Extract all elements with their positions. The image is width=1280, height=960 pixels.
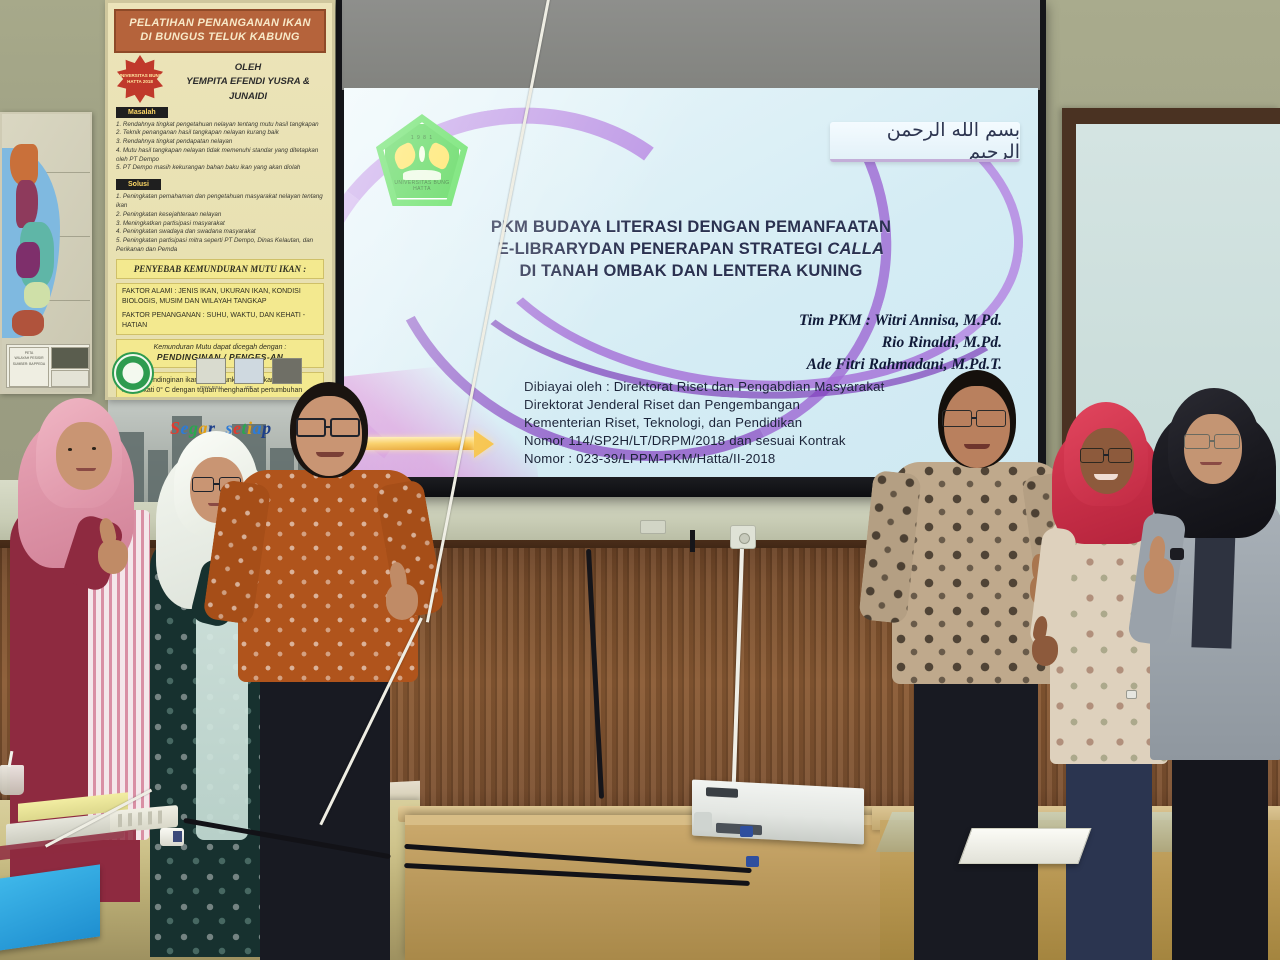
map-legend: PETA WILAYAH PESISIR SUMBER: BAPPEDA — [6, 344, 90, 388]
poster-s1-item-4: 5. PT Dempo masih kekurangan bahan baku … — [116, 164, 324, 173]
funding-line-4: Nomor : 023-39/LPPM-PKM/Hatta/II-2018 — [524, 450, 885, 468]
wall-outlet — [730, 525, 756, 549]
bismillah-calligraphy: بسم الله الرحمن الرحيم — [830, 122, 1020, 162]
funding-line-1: Direktorat Jenderal Riset dan Pengembang… — [524, 396, 885, 414]
person-6-bracelet — [1170, 548, 1184, 560]
projector-vent-icon — [706, 787, 738, 798]
person-2-glasses-icon — [192, 477, 214, 492]
blue-folder — [0, 864, 100, 951]
slide-title-line-1: PKM BUDAYA LITERASI DENGAN PEMANFAATAN — [356, 216, 1026, 238]
person-5-watch — [1126, 690, 1137, 699]
slide-team-list: Tim PKM : Witri Annisa, M.Pd. Rio Rinald… — [799, 310, 1002, 376]
poster-s2-item-3: 4. Peningkatan swadaya dan swadana masya… — [116, 228, 324, 237]
slide-title: PKM BUDAYA LITERASI DENGAN PEMANFAATAN E… — [344, 216, 1038, 282]
poster-starburst-text: UNIVERSITAS BUNG HATTA 2018 — [116, 55, 164, 103]
team-member-0: Tim PKM : Witri Annisa, M.Pd. — [799, 310, 1002, 332]
poster-photo-caption-1: RAW FISH — [196, 385, 226, 390]
poster-s1-item-0: 1. Rendahnya tingkat pengetahuan nelayan… — [116, 121, 324, 130]
wall-poster-training: PELATIHAN PENANGANAN IKAN DI BUNGUS TELU… — [105, 0, 335, 400]
person-4-trousers — [914, 668, 1038, 960]
person-1-hand — [98, 540, 128, 574]
poster-section1-label: Masalah — [116, 107, 168, 118]
poster-section2-label: Solusi — [116, 179, 161, 190]
person-6-glasses-icon — [1184, 434, 1210, 449]
poster-photo-icon-2 — [234, 358, 264, 384]
poster-s2-item-0: 1. Peningkatan pemahaman dan pengetahuan… — [116, 193, 324, 211]
projector-vga-plug — [740, 826, 753, 837]
projector-vga-plug-2 — [746, 856, 759, 867]
poster-starburst-icon: UNIVERSITAS BUNG HATTA 2018 — [116, 55, 164, 103]
poster-photo-caption-2: ICE — [234, 385, 264, 390]
wall-cable-clip — [640, 520, 666, 534]
poster-s1-item-2: 3. Rendahnya tingkat pendapatan nelayan — [116, 138, 324, 147]
poster-section1-list: 1. Rendahnya tingkat pengetahuan nelayan… — [116, 121, 324, 174]
map-title: PETA — [25, 351, 34, 355]
poster-authors: YEMPITA EFENDI YUSRA & JUNAIDI — [170, 75, 326, 104]
slide-title-line-2: E-LIBRARYDAN PENERAPAN STRATEGI CALLA — [356, 238, 1026, 260]
person-4-face — [944, 386, 1010, 468]
poster-by-label: OLEH — [170, 61, 326, 75]
funding-line-0: Dibiayai oleh : Direktorat Riset dan Pen… — [524, 378, 885, 396]
person-1-face — [56, 422, 112, 490]
wall-cable-short — [690, 530, 695, 552]
projector-lens-icon — [694, 812, 712, 830]
poster-seal-icon — [112, 352, 154, 394]
slide-corner-gradient — [344, 357, 541, 478]
slide-arrow-head-icon — [474, 430, 494, 458]
university-logo-icon: 1 9 8 1 UNIVERSITAS BUNG HATTA — [376, 114, 468, 206]
poster-s1-item-1: 2. Teknik penanganan hasil tangkapan nel… — [116, 129, 324, 138]
poster-box-title: PENYEBAB KEMUNDURAN MUTU IKAN : — [116, 259, 324, 280]
poster-box-factors: FAKTOR ALAMI : JENIS IKAN, UKURAN IKAN, … — [116, 283, 324, 334]
screen-upper-gray — [342, 0, 1040, 90]
slide-funding-block: Dibiayai oleh : Direktorat Riset dan Pen… — [524, 378, 885, 468]
person-5-glasses-icon — [1080, 448, 1104, 463]
map-note: SUMBER: BAPPEDA — [13, 362, 45, 366]
poster-s1-item-3: 4. Mutu hasil tangkapan nelayan tidak me… — [116, 147, 324, 165]
person-6-face — [1184, 414, 1242, 484]
poster-header-line-1: PELATIHAN PENANGANAN IKAN — [120, 17, 320, 31]
funding-line-2: Kementerian Riset, Teknologi, dan Pendid… — [524, 414, 885, 432]
poster-section2-list: 1. Peningkatan pemahaman dan pengetahuan… — [116, 193, 324, 255]
photo-scene: 1 9 8 1 UNIVERSITAS BUNG HATTA بسم الله … — [0, 0, 1280, 960]
slide-title-line-3: DI TANAH OMBAK DAN LENTERA KUNING — [356, 260, 1026, 282]
team-member-1: Rio Rinaldi, M.Pd. — [799, 332, 1002, 354]
poster-authors-block: OLEH YEMPITA EFENDI YUSRA & JUNAIDI — [170, 61, 326, 104]
person-4-glasses-icon — [942, 410, 972, 427]
poster-factor-natural: FAKTOR ALAMI : JENIS IKAN, UKURAN IKAN, … — [122, 287, 318, 307]
poster-header-line-2: DI BUNGUS TELUK KABUNG — [120, 31, 320, 45]
document-stack — [958, 828, 1091, 864]
wall-map: PETA WILAYAH PESISIR SUMBER: BAPPEDA — [0, 112, 92, 394]
drink-cup — [0, 765, 24, 795]
logo-university-text: UNIVERSITAS BUNG HATTA — [385, 180, 458, 192]
poster-photo-icon-3 — [272, 358, 302, 384]
person-3-glasses-icon — [296, 418, 326, 437]
poster-highlight-line-1: Kemunduran Mutu dapat dicegah dengan : — [122, 343, 318, 353]
power-adapter — [160, 828, 184, 846]
map-caption: WILAYAH PESISIR — [14, 356, 43, 360]
funding-line-3: Nomor 114/SP2H/LT/DRPM/2018 dan sesuai K… — [524, 432, 885, 450]
presentation-slide: 1 9 8 1 UNIVERSITAS BUNG HATTA بسم الله … — [344, 88, 1038, 478]
poster-photo-icon-1 — [196, 358, 226, 384]
poster-s2-item-1: 2. Peningkatan kesejahteraan nelayan — [116, 211, 324, 220]
person-5-hand — [1032, 636, 1058, 666]
poster-s2-item-2: 3. Meningkatkan partisipasi masyarakat — [116, 220, 324, 229]
poster-factor-handling: FAKTOR PENANGANAN : SUHU, WAKTU, DAN KEH… — [122, 311, 318, 331]
poster-header: PELATIHAN PENANGANAN IKAN DI BUNGUS TELU… — [114, 9, 326, 53]
poster-s2-item-4: 5. Peningkatan partisipasi mitra seperti… — [116, 237, 324, 255]
